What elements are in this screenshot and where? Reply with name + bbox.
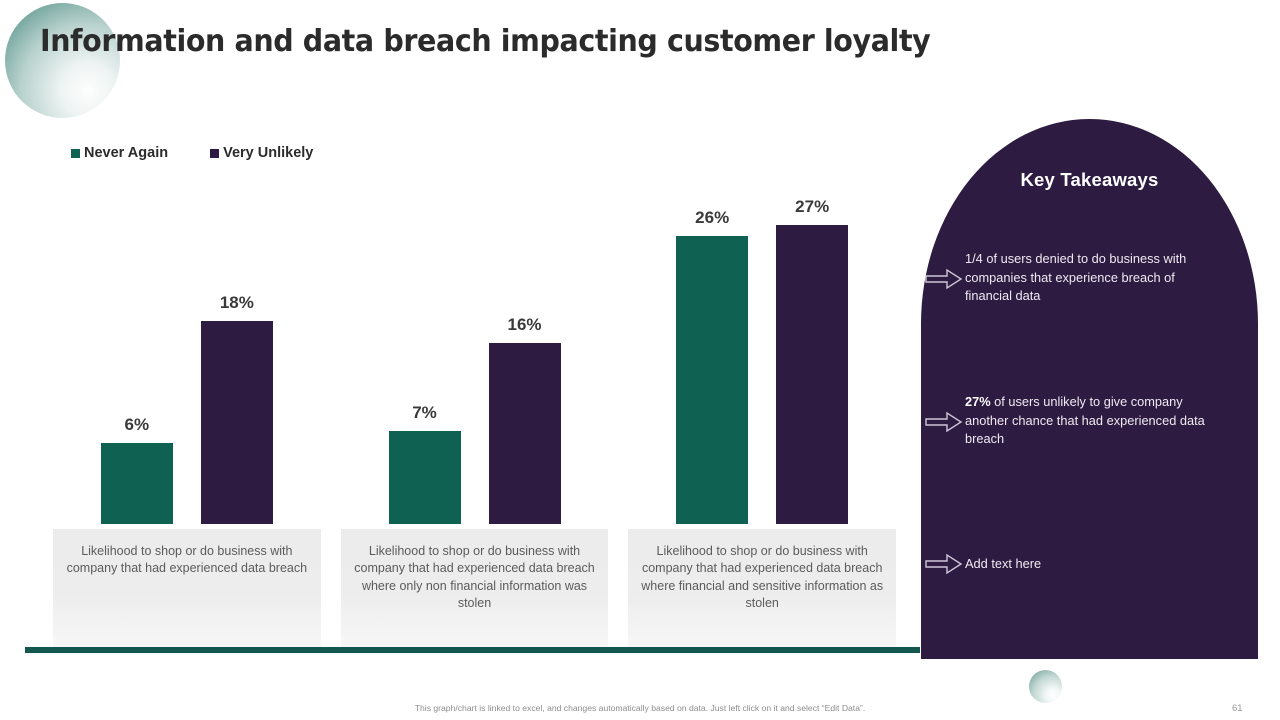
bar-very-unlikely-1[interactable]: 18% bbox=[201, 179, 273, 524]
legend-swatch-very-unlikely bbox=[210, 149, 219, 158]
page-title: Information and data breach impacting cu… bbox=[40, 24, 930, 59]
legend-swatch-never-again bbox=[71, 149, 80, 158]
legend-label-never-again: Never Again bbox=[84, 145, 168, 161]
bar-value-very-unlikely-1: 18% bbox=[220, 293, 254, 313]
chart-card: Never Again Very Unlikely 6% 18% bbox=[25, 119, 920, 653]
bar-group-2: 7% 16% Likelihood to shop or do business… bbox=[331, 179, 619, 647]
legend-item-very-unlikely[interactable]: Very Unlikely bbox=[210, 145, 313, 161]
bar-rect-very-unlikely-1[interactable] bbox=[201, 321, 273, 524]
arrow-right-icon-3 bbox=[925, 553, 963, 575]
takeaway-text-1: 1/4 of users denied to do business with … bbox=[965, 251, 1186, 303]
bar-group-2-label: Likelihood to shop or do business with c… bbox=[341, 529, 609, 647]
takeaway-item-3[interactable]: Add text here bbox=[965, 555, 1217, 574]
bar-group-3-bars: 26% 27% bbox=[618, 179, 906, 524]
takeaway-item-2: 27% of users unlikely to give company an… bbox=[965, 393, 1217, 449]
key-takeaways-panel: Key Takeaways 1/4 of users denied to do … bbox=[921, 119, 1258, 659]
bar-rect-very-unlikely-2[interactable] bbox=[489, 343, 561, 524]
bar-never-again-2[interactable]: 7% bbox=[389, 179, 461, 524]
chart-plot-area: 6% 18% Likelihood to shop or do business… bbox=[43, 179, 906, 647]
bar-value-never-again-1: 6% bbox=[125, 415, 150, 435]
footer-note: This graph/chart is linked to excel, and… bbox=[0, 703, 1280, 713]
bar-group-1-bars: 6% 18% bbox=[43, 179, 331, 524]
key-takeaways-title: Key Takeaways bbox=[921, 169, 1258, 191]
legend-item-never-again[interactable]: Never Again bbox=[71, 145, 168, 161]
legend-label-very-unlikely: Very Unlikely bbox=[223, 145, 313, 161]
takeaway-text-2: of users unlikely to give company anothe… bbox=[965, 394, 1205, 446]
takeaway-text-3: Add text here bbox=[965, 556, 1041, 571]
bar-very-unlikely-3[interactable]: 27% bbox=[776, 179, 848, 524]
takeaway-lead-2: 27% bbox=[965, 394, 991, 409]
bar-value-very-unlikely-3: 27% bbox=[795, 197, 829, 217]
bar-groups: 6% 18% Likelihood to shop or do business… bbox=[43, 179, 906, 647]
bar-value-never-again-2: 7% bbox=[412, 403, 437, 423]
bar-very-unlikely-2[interactable]: 16% bbox=[489, 179, 561, 524]
bar-value-never-again-3: 26% bbox=[695, 208, 729, 228]
bar-group-3: 26% 27% Likelihood to shop or do busines… bbox=[618, 179, 906, 647]
decorative-sphere-bottom bbox=[1029, 670, 1062, 703]
decorative-sphere-top-left bbox=[5, 3, 120, 118]
bar-never-again-3[interactable]: 26% bbox=[676, 179, 748, 524]
bar-value-very-unlikely-2: 16% bbox=[507, 315, 541, 335]
bar-rect-never-again-2[interactable] bbox=[389, 431, 461, 524]
bar-rect-very-unlikely-3[interactable] bbox=[776, 225, 848, 524]
chart-legend: Never Again Very Unlikely bbox=[71, 145, 313, 161]
bar-rect-never-again-1[interactable] bbox=[101, 443, 173, 524]
bar-group-2-bars: 7% 16% bbox=[331, 179, 619, 524]
bar-group-3-label: Likelihood to shop or do business with c… bbox=[628, 529, 896, 647]
page-number: 61 bbox=[1232, 703, 1243, 714]
arrow-right-icon-1 bbox=[925, 268, 963, 290]
takeaway-item-1: 1/4 of users denied to do business with … bbox=[965, 250, 1217, 306]
bar-group-1: 6% 18% Likelihood to shop or do business… bbox=[43, 179, 331, 647]
bar-never-again-1[interactable]: 6% bbox=[101, 179, 173, 524]
bar-rect-never-again-3[interactable] bbox=[676, 236, 748, 524]
bar-group-1-label: Likelihood to shop or do business with c… bbox=[53, 529, 321, 647]
arrow-right-icon-2 bbox=[925, 411, 963, 433]
